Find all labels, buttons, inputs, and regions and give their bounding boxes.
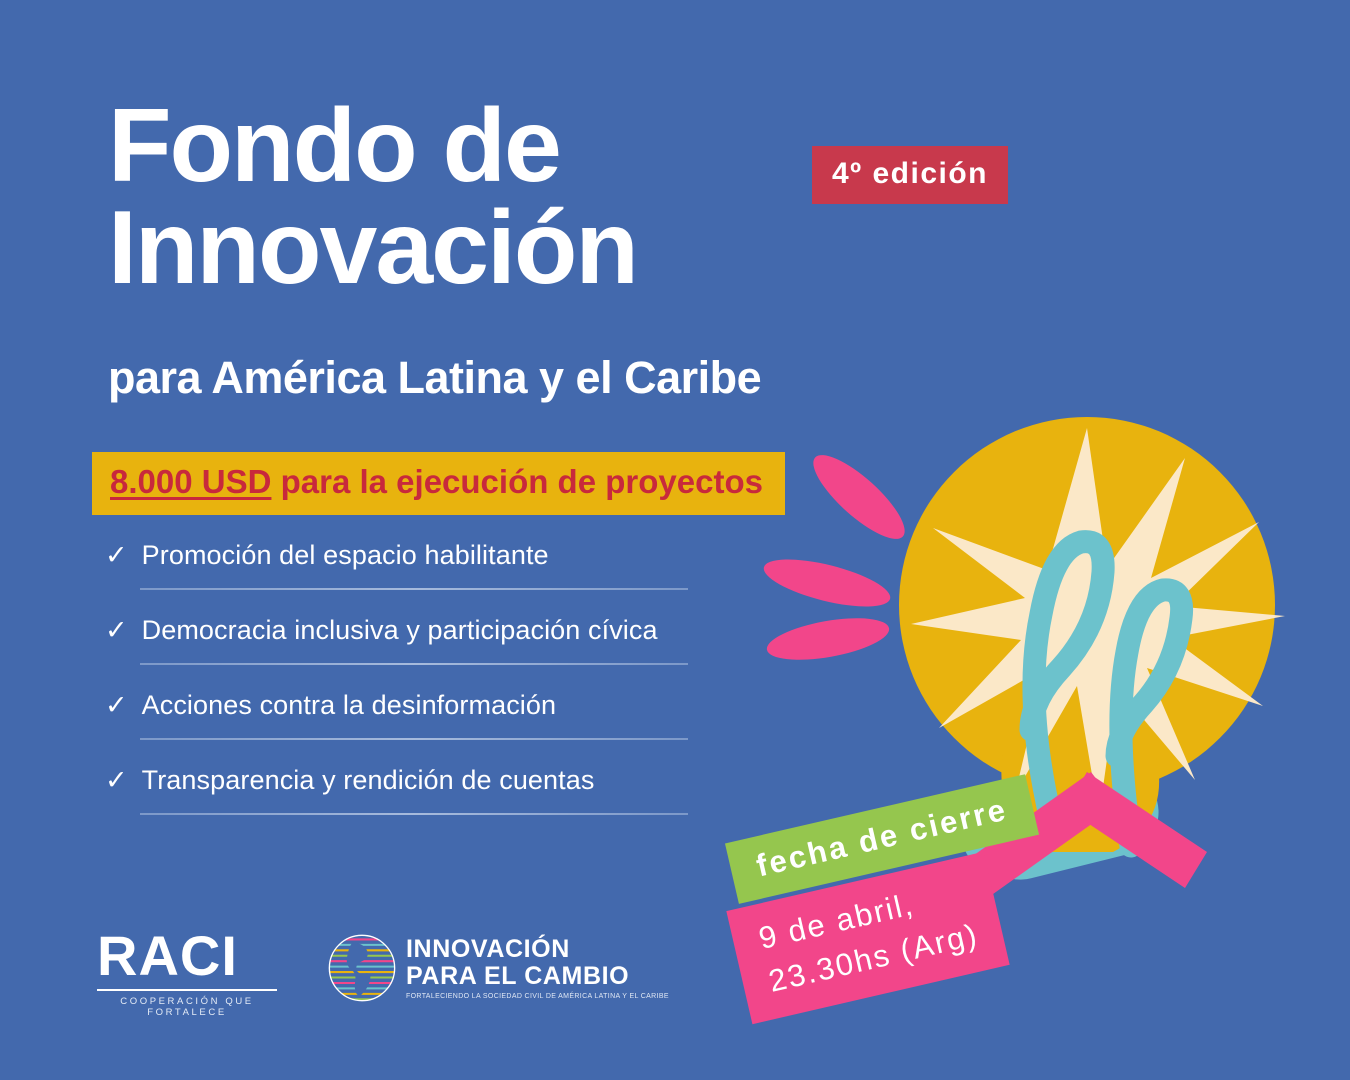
divider: [140, 738, 688, 740]
check-icon: ✓: [105, 542, 128, 569]
list-item: ✓ Promoción del espacio habilitante: [105, 540, 705, 590]
ipc-line-2: PARA EL CAMBIO: [406, 963, 669, 990]
edition-badge: 4º edición: [812, 146, 1008, 204]
checklist: ✓ Promoción del espacio habilitante ✓ De…: [105, 540, 705, 840]
checklist-item-label: Transparencia y rendición de cuentas: [142, 765, 595, 796]
title-line-2: Innovación: [108, 198, 968, 300]
list-item: ✓ Democracia inclusiva y participación c…: [105, 615, 705, 665]
globe-icon: [328, 934, 396, 1002]
list-item: ✓ Transparencia y rendición de cuentas: [105, 765, 705, 815]
checklist-item-label: Promoción del espacio habilitante: [142, 540, 549, 571]
ipc-wordmark: INNOVACIÓN PARA EL CAMBIO FORTALECIENDO …: [406, 936, 669, 1000]
raci-divider: [97, 989, 277, 991]
checklist-item-label: Democracia inclusiva y participación cív…: [142, 615, 658, 646]
checklist-item-label: Acciones contra la desinformación: [142, 690, 557, 721]
raci-tagline: COOPERACIÓN QUE FORTALECE: [97, 996, 277, 1018]
ipc-tagline: FORTALECIENDO LA SOCIEDAD CIVIL DE AMÉRI…: [406, 993, 669, 1000]
amount-banner: 8.000 USD para la ejecución de proyectos: [92, 452, 785, 515]
divider: [140, 663, 688, 665]
subtitle: para América Latina y el Caribe: [108, 352, 761, 404]
divider: [140, 813, 688, 815]
raci-wordmark: RACI: [97, 928, 277, 984]
check-icon: ✓: [105, 617, 128, 644]
raci-logo: RACI COOPERACIÓN QUE FORTALECE: [97, 928, 277, 1018]
amount-value: 8.000 USD: [110, 463, 271, 500]
check-icon: ✓: [105, 767, 128, 794]
divider: [140, 588, 688, 590]
amount-description: para la ejecución de proyectos: [271, 463, 763, 500]
innovacion-para-el-cambio-logo: INNOVACIÓN PARA EL CAMBIO FORTALECIENDO …: [328, 934, 669, 1002]
poster-canvas: Fondo de Innovación para América Latina …: [0, 0, 1350, 1080]
ipc-line-1: INNOVACIÓN: [406, 936, 669, 963]
check-icon: ✓: [105, 692, 128, 719]
list-item: ✓ Acciones contra la desinformación: [105, 690, 705, 740]
